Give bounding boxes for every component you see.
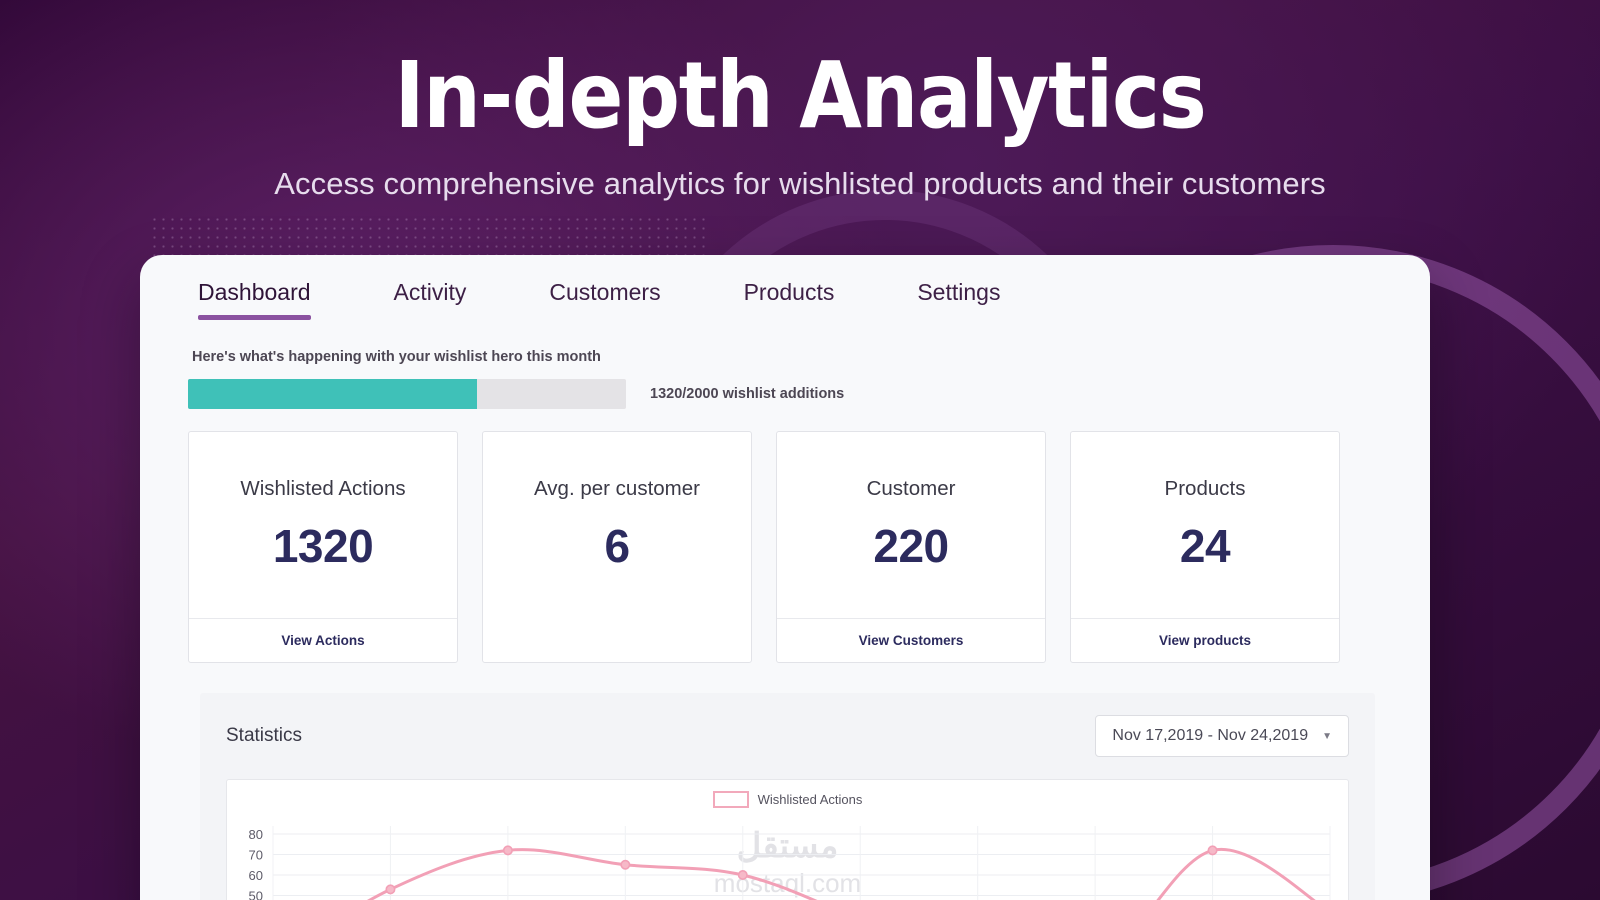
line-chart: 8070605040: [227, 780, 1348, 900]
view-products-link[interactable]: View products: [1071, 618, 1339, 662]
intro-message: Here's what's happening with your wishli…: [192, 349, 1430, 365]
svg-text:80: 80: [249, 827, 263, 842]
app-window-card: Dashboard Activity Customers Products Se…: [140, 255, 1430, 900]
progress-label: 1320/2000 wishlist additions: [650, 386, 844, 402]
stat-card-wishlisted-actions: Wishlisted Actions 1320 View Actions: [188, 431, 458, 663]
stat-card-customer: Customer 220 View Customers: [776, 431, 1046, 663]
svg-text:50: 50: [249, 889, 263, 900]
date-range-picker[interactable]: Nov 17,2019 - Nov 24,2019 ▼: [1095, 715, 1349, 757]
progress-bar-track: [188, 379, 626, 409]
progress-bar-fill: [188, 379, 477, 409]
progress-row: 1320/2000 wishlist additions: [188, 379, 1430, 409]
chevron-down-icon: ▼: [1322, 731, 1332, 742]
date-range-value: Nov 17,2019 - Nov 24,2019: [1112, 727, 1308, 745]
stat-card-value: 6: [604, 519, 629, 573]
page-title: In-depth Analytics: [96, 48, 1504, 144]
statistics-section: Statistics Nov 17,2019 - Nov 24,2019 ▼ W…: [200, 693, 1375, 900]
stat-card-body: Wishlisted Actions 1320: [189, 432, 457, 618]
page-subtitle: Access comprehensive analytics for wishl…: [0, 166, 1600, 202]
stat-card-products: Products 24 View products: [1070, 431, 1340, 663]
stat-card-title: Avg. per customer: [534, 477, 700, 501]
stat-card-title: Wishlisted Actions: [240, 477, 405, 501]
stat-card-row: Wishlisted Actions 1320 View Actions Avg…: [188, 431, 1430, 663]
tab-customers[interactable]: Customers: [549, 255, 660, 318]
stat-card-value: 220: [873, 519, 948, 573]
stat-card-body: Products 24: [1071, 432, 1339, 618]
tab-bar: Dashboard Activity Customers Products Se…: [140, 255, 1430, 327]
view-customers-link[interactable]: View Customers: [777, 618, 1045, 662]
svg-text:60: 60: [249, 868, 263, 883]
stat-card-title: Customer: [867, 477, 956, 501]
stat-card-avg-per-customer: Avg. per customer 6: [482, 431, 752, 663]
stat-card-value: 1320: [273, 519, 373, 573]
statistics-title: Statistics: [226, 725, 302, 747]
statistics-chart-panel: Wishlisted Actions مستقل mostaql.com 807…: [226, 779, 1349, 900]
tab-activity[interactable]: Activity: [394, 255, 467, 318]
hero-section: In-depth Analytics Access comprehensive …: [0, 0, 1600, 202]
svg-text:70: 70: [249, 848, 263, 863]
stat-card-body: Avg. per customer 6: [483, 432, 751, 618]
tab-products[interactable]: Products: [744, 255, 835, 318]
statistics-header: Statistics Nov 17,2019 - Nov 24,2019 ▼: [226, 715, 1349, 757]
tab-dashboard[interactable]: Dashboard: [198, 255, 311, 318]
stat-card-value: 24: [1180, 519, 1230, 573]
view-actions-link[interactable]: View Actions: [189, 618, 457, 662]
stat-card-body: Customer 220: [777, 432, 1045, 618]
tab-settings[interactable]: Settings: [917, 255, 1000, 318]
stat-card-title: Products: [1165, 477, 1246, 501]
stat-card-footer-empty: [483, 618, 751, 662]
